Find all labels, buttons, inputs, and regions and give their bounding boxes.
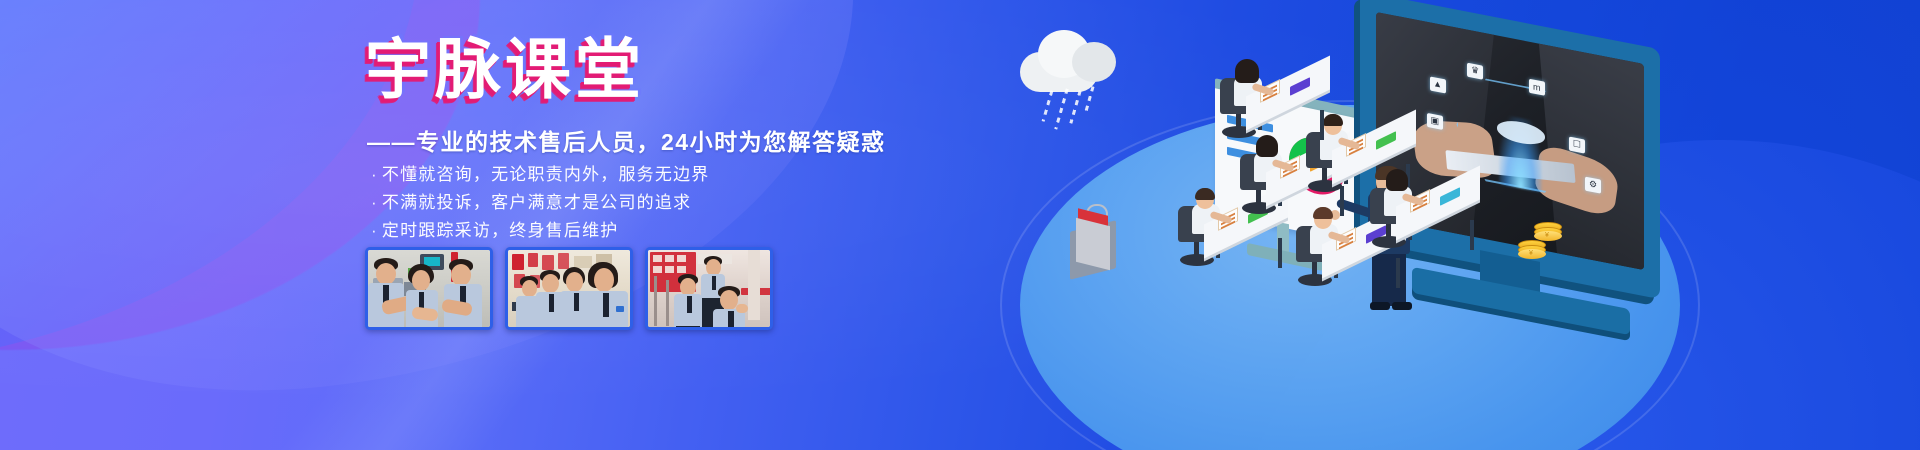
envelope-icon: ☐ [1569,136,1585,153]
cloud-icon [1020,30,1128,92]
mail-icon: m [1529,79,1545,96]
list-item: ·定时跟踪采访，终身售后维护 [371,218,709,244]
student-desk [1370,172,1490,258]
book-icon: ▣ [1427,112,1443,129]
feature-bullet-list: ·不懂就咨询，无论职责内外，服务无边界 ·不满就投诉，客户满意才是公司的追求 ·… [371,162,709,246]
bullet-dot-icon: · [371,190,378,216]
team-photo-3[interactable] [645,247,773,330]
bullet-dot-icon: · [371,218,378,244]
banner-title: 宇脉课堂 [365,36,645,102]
graduation-cap-icon: ▲ [1430,76,1446,93]
classroom-illustration: ♛ ▲ ▣ m ☐ ⚙ [1060,0,1920,450]
bullet-text: 不懂就咨询，无论职责内外，服务无边界 [382,165,710,184]
student-desk [1220,62,1340,148]
banner-subtitle: ——专业的技术售后人员，24小时为您解答疑惑 [367,123,886,157]
rain-line-icon [1069,90,1081,124]
gear-icon: ⚙ [1585,176,1601,193]
team-photo-2[interactable] [505,247,633,330]
bag-with-books-icon [1070,212,1122,274]
bullet-text: 定时跟踪采访，终身售后维护 [382,221,619,240]
team-photo-strip [365,247,773,330]
list-item: ·不懂就咨询，无论职责内外，服务无边界 [371,162,709,188]
banner-content: 宇脉课堂 ——专业的技术售后人员，24小时为您解答疑惑 ·不懂就咨询，无论职责内… [365,0,985,450]
bullet-dot-icon: · [371,162,378,188]
promo-banner: 宇脉课堂 ——专业的技术售后人员，24小时为您解答疑惑 ·不懂就咨询，无论职责内… [0,0,1920,450]
bullet-text: 不满就投诉，客户满意才是公司的追求 [382,193,691,212]
list-item: ·不满就投诉，客户满意才是公司的追求 [371,190,709,216]
trophy-icon: ♛ [1467,63,1483,80]
team-photo-1[interactable] [365,247,493,330]
